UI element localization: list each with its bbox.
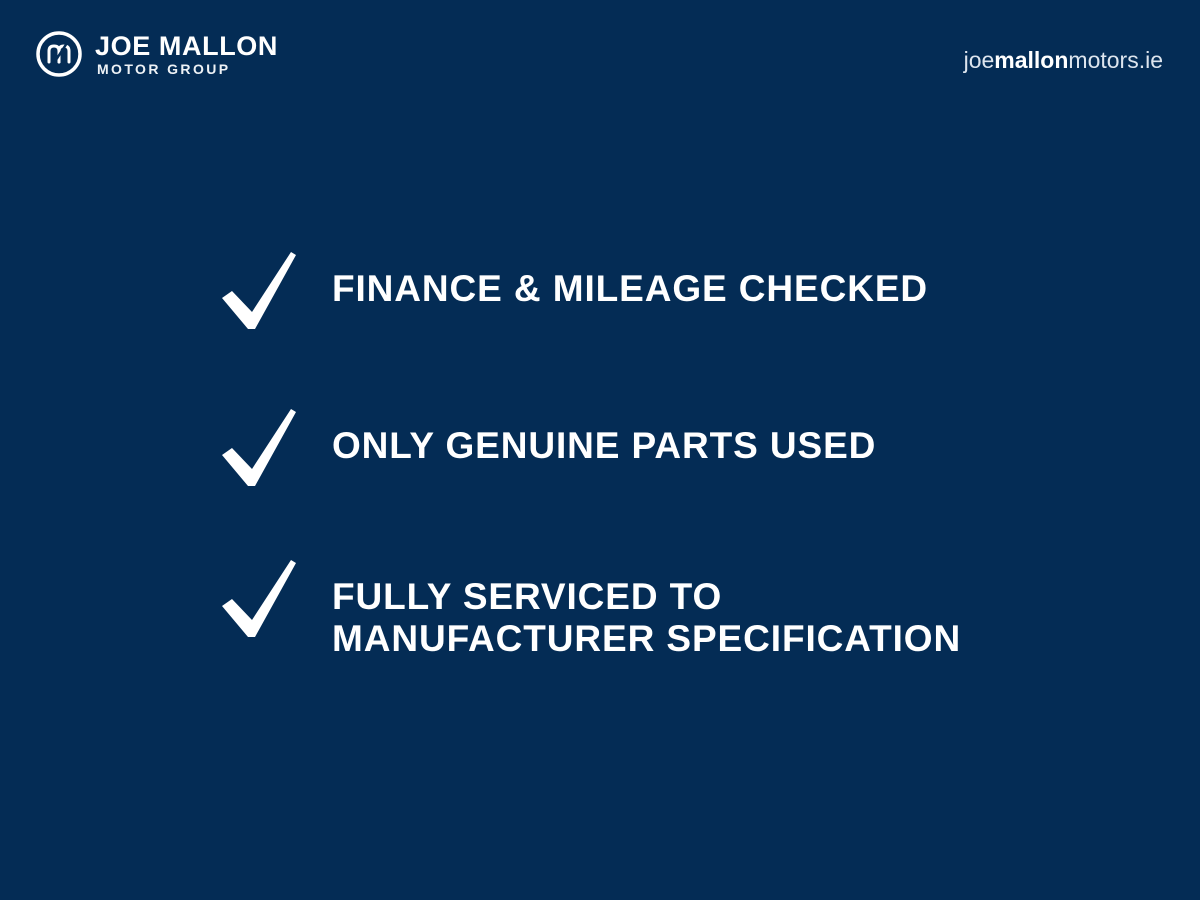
feature-line: FULLY SERVICED TO <box>332 576 961 618</box>
feature-item-fully-serviced: FULLY SERVICED TO MANUFACTURER SPECIFICA… <box>0 552 1200 709</box>
brand-name: JOE MALLON <box>95 32 278 60</box>
feature-item-genuine-parts: ONLY GENUINE PARTS USED <box>0 395 1200 552</box>
feature-text: ONLY GENUINE PARTS USED <box>332 425 876 467</box>
promo-banner: { "theme": { "background_color": "#042c5… <box>0 0 1200 900</box>
checkmark-icon <box>219 558 299 640</box>
site-url[interactable]: joemallonmotors.ie <box>964 47 1163 73</box>
feature-line: ONLY GENUINE PARTS USED <box>332 425 876 467</box>
brand-logo[interactable]: JOE MALLON MOTOR GROUP <box>34 29 278 79</box>
brand-wordmark: JOE MALLON MOTOR GROUP <box>95 31 278 78</box>
feature-line: FINANCE & MILEAGE CHECKED <box>332 268 928 310</box>
checkmark-icon <box>219 407 299 489</box>
feature-item-finance-mileage: FINANCE & MILEAGE CHECKED <box>0 238 1200 395</box>
site-url-suffix: motors.ie <box>1068 47 1163 73</box>
brand-subtitle: MOTOR GROUP <box>95 60 278 78</box>
site-url-prefix: joe <box>964 47 995 73</box>
feature-text: FINANCE & MILEAGE CHECKED <box>332 268 928 310</box>
banner-header: JOE MALLON MOTOR GROUP joemallonmotors.i… <box>0 0 1200 112</box>
feature-list: FINANCE & MILEAGE CHECKED ONLY GENUINE P… <box>0 238 1200 709</box>
feature-text: FULLY SERVICED TO MANUFACTURER SPECIFICA… <box>332 576 961 660</box>
site-url-strong: mallon <box>994 47 1068 73</box>
joe-mallon-circular-monogram-icon <box>34 29 84 79</box>
feature-line: MANUFACTURER SPECIFICATION <box>332 618 961 660</box>
checkmark-icon <box>219 250 299 332</box>
